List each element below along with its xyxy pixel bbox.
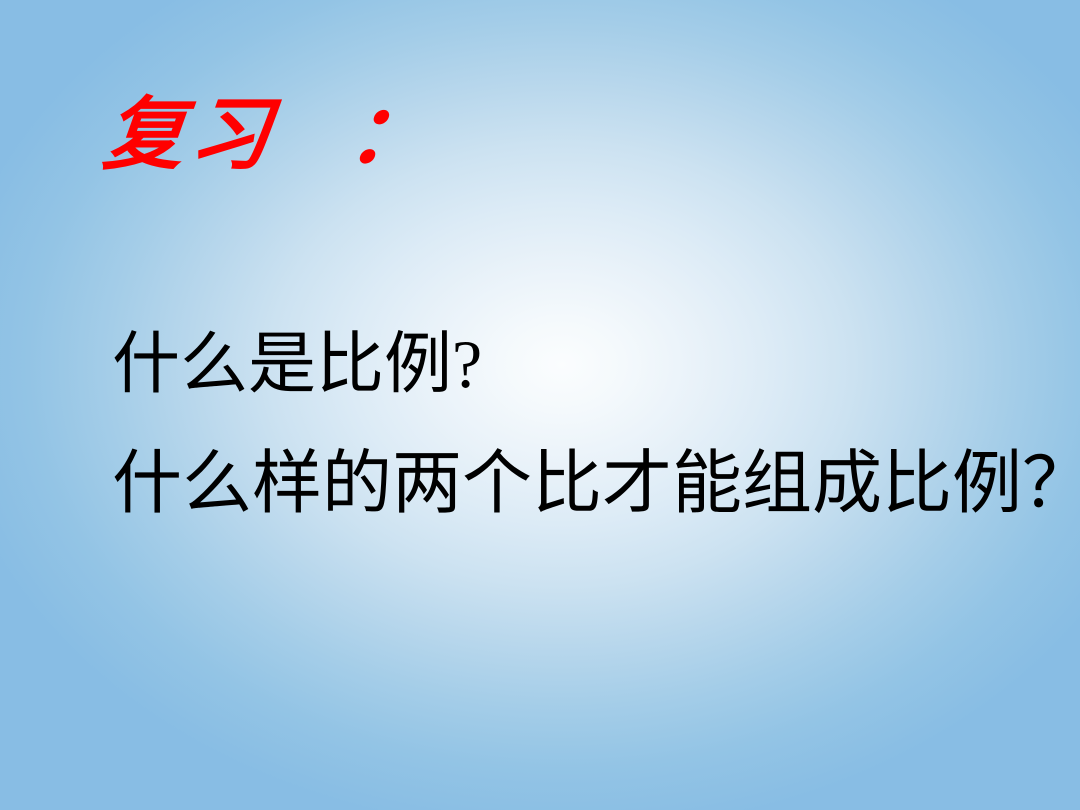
slide-title: 复习 ： (100, 96, 424, 176)
question-line-2: 什么样的两个比才能组成比例？ (112, 450, 1052, 520)
question-list: 什么是比例? 什么样的两个比才能组成比例？ (112, 330, 1052, 520)
slide-title-colon: ： (344, 96, 432, 176)
question-line-1: 什么是比例? (112, 330, 1052, 398)
slide-canvas: 复习 ： 什么是比例? 什么样的两个比才能组成比例？ (0, 0, 1080, 810)
slide-title-text: 复习 (100, 96, 280, 176)
